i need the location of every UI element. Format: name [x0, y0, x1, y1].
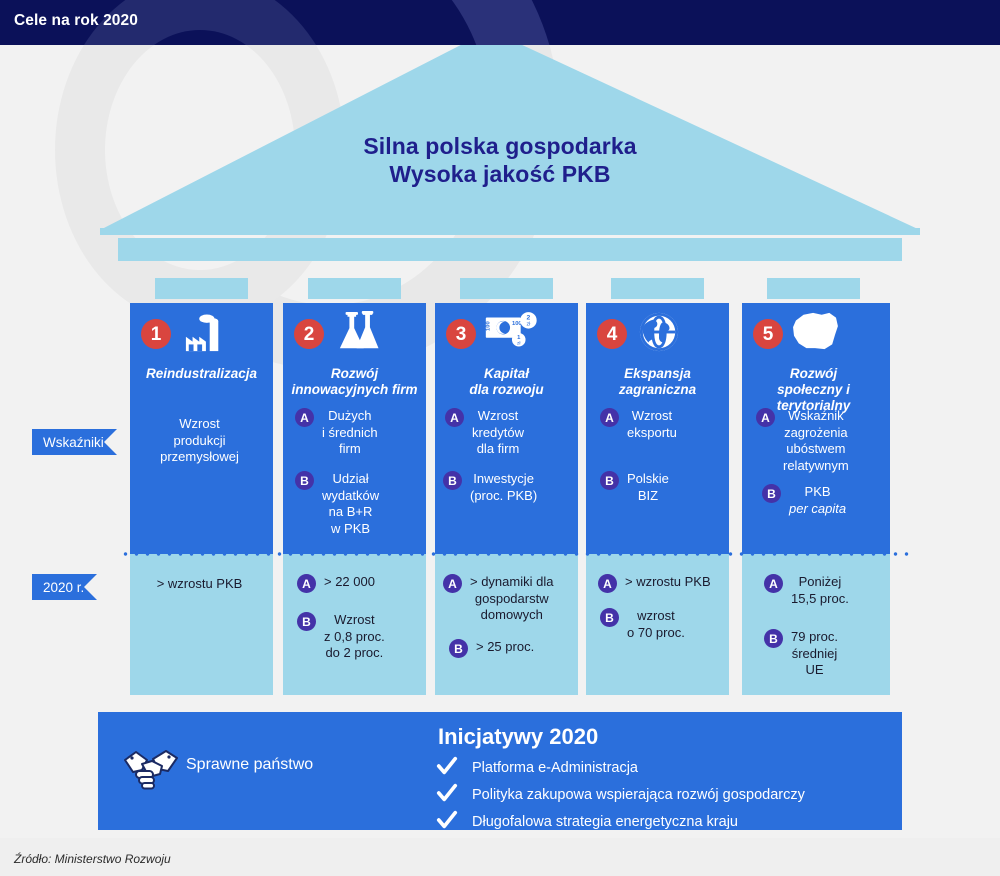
pillar-number-badge: 3 [446, 319, 476, 349]
banknote-coins-icon: 1001002zł1zł [480, 311, 542, 351]
poland-map-icon [790, 309, 840, 351]
pillar-number-badge: 4 [597, 319, 627, 349]
pillar-icon-wrap: 1001002zł1zł [480, 311, 542, 356]
target-text: > wzrostu PKB [625, 574, 711, 591]
pillar-number-badge: 1 [141, 319, 171, 349]
indicator-text: PKBper capita [789, 484, 846, 517]
indicator-text: Wzrosteksportu [627, 408, 677, 441]
pillar-1-indicators: 1ReindustralizacjaWzrostprodukcjiprzemys… [130, 303, 273, 554]
target-item: B> 25 proc. [449, 639, 574, 658]
pillar-3-targets: A> dynamiki dlagospodarstwdomowychB> 25 … [435, 554, 578, 695]
svg-text:100: 100 [512, 321, 522, 327]
pillar-4-indicators: 4EkspansjazagranicznaAWzrosteksportuBPol… [586, 303, 729, 554]
pillar-capital-2 [308, 278, 401, 299]
pillar-1[interactable]: 1ReindustralizacjaWzrostprodukcjiprzemys… [130, 303, 273, 695]
pillar-capital-4 [611, 278, 704, 299]
check-icon-wrap [436, 755, 460, 782]
indicator-letter-badge: A [295, 408, 314, 427]
pillar-title: Ekspansjazagraniczna [586, 366, 729, 398]
target-text: > wzrostu PKB [130, 576, 269, 593]
pillar-icon-wrap [790, 309, 840, 356]
target-letter-badge: B [449, 639, 468, 658]
pillar-3-indicators: 31001002zł1złKapitałdla rozwojuAWzrostkr… [435, 303, 578, 554]
pediment-line-1: Silna polska gospodarka [0, 132, 1000, 160]
row-label-targets: 2020 r. [32, 574, 84, 600]
target-item: BWzrostz 0,8 proc.do 2 proc. [297, 612, 422, 662]
check-icon [436, 782, 458, 804]
check-icon [436, 755, 458, 777]
state-label: Sprawne państwo [186, 756, 313, 774]
pillar-2-targets: A> 22 000BWzrostz 0,8 proc.do 2 proc. [283, 554, 426, 695]
pillar-title: Rozwójspołeczny i terytorialny [736, 366, 891, 414]
initiative-text: Polityka zakupowa wspierająca rozwój gos… [472, 787, 805, 803]
indicator-item: Wzrostprodukcjiprzemysłowej [130, 416, 269, 466]
pillar-2-indicators: 2Rozwójinnowacyjnych firmADużychi średni… [283, 303, 426, 554]
row-label-indicators: Wskaźniki [32, 429, 104, 455]
indicator-letter-badge: A [756, 408, 775, 427]
indicator-item: BPKBper capita [762, 484, 886, 517]
check-icon-wrap [436, 782, 460, 809]
initiative-item: Długofalowa strategia energetyczna kraju [436, 810, 805, 834]
indicator-text: PolskieBIZ [627, 471, 669, 504]
section-divider-dots [120, 551, 910, 557]
indicator-text: Wzrostkredytówdla firm [472, 408, 524, 458]
pillar-icon-wrap [335, 311, 381, 358]
indicator-text: Inwestycje(proc. PKB) [470, 471, 537, 504]
header-bar: Cele na rok 2020 [0, 0, 1000, 45]
initiative-item: Platforma e-Administracja [436, 756, 805, 780]
infographic-root: Cele na rok 2020 Silna polska gospodarka… [0, 0, 1000, 876]
indicator-text: Wzrostprodukcjiprzemysłowej [130, 416, 269, 466]
pediment-headline: Silna polska gospodarka Wysoka jakość PK… [0, 132, 1000, 188]
indicator-text: Dużychi średnichfirm [322, 408, 378, 458]
indicator-item: BInwestycje(proc. PKB) [443, 471, 574, 504]
pillar-4-targets: A> wzrostu PKBBwzrosto 70 proc. [586, 554, 729, 695]
pediment-line-2: Wysoka jakość PKB [0, 160, 1000, 188]
pillar-capital-1 [155, 278, 248, 299]
header-decoration [0, 0, 1000, 45]
initiatives-panel: Sprawne państwo Inicjatywy 2020 Platform… [98, 712, 902, 830]
indicator-letter-badge: B [762, 484, 781, 503]
pillar-title: Rozwójinnowacyjnych firm [283, 366, 426, 398]
check-icon-wrap [436, 809, 460, 836]
architrave-bar [118, 238, 902, 261]
check-icon [436, 809, 458, 831]
indicator-letter-badge: B [600, 471, 619, 490]
pillar-icon-wrap [182, 313, 226, 358]
target-letter-badge: A [598, 574, 617, 593]
pillar-number-badge: 2 [294, 319, 324, 349]
row-label-indicators-text: Wskaźniki [43, 435, 104, 450]
initiative-text: Długofalowa strategia energetyczna kraju [472, 814, 738, 830]
target-text: wzrosto 70 proc. [627, 608, 685, 641]
row-label-targets-text: 2020 r. [43, 580, 84, 595]
pillar-capital-3 [460, 278, 553, 299]
target-text: 79 proc.średniejUE [791, 629, 838, 679]
pillar-5-indicators: 5Rozwójspołeczny i terytorialnyAWskaźnik… [742, 303, 890, 554]
target-item: APoniżej15,5 proc. [764, 574, 886, 607]
target-letter-badge: B [297, 612, 316, 631]
target-letter-badge: A [443, 574, 462, 593]
pillar-number-badge: 5 [753, 319, 783, 349]
globe-icon [638, 311, 680, 353]
initiative-text: Platforma e-Administracja [472, 760, 638, 776]
target-item: > wzrostu PKB [130, 576, 269, 593]
pillar-4[interactable]: 4EkspansjazagranicznaAWzrosteksportuBPol… [586, 303, 729, 695]
indicator-item: AWskaźnikzagrożeniaubóstwemrelatywnym [756, 408, 886, 474]
factory-icon [182, 313, 226, 353]
svg-text:100: 100 [486, 321, 492, 331]
source-note: Źródło: Ministerstwo Rozwoju [14, 852, 171, 866]
pillar-icon-wrap [638, 311, 680, 358]
target-item: Bwzrosto 70 proc. [600, 608, 725, 641]
target-text: Poniżej15,5 proc. [791, 574, 849, 607]
target-letter-badge: A [764, 574, 783, 593]
target-item: B79 proc.średniejUE [764, 629, 886, 679]
target-text: Wzrostz 0,8 proc.do 2 proc. [324, 612, 385, 662]
target-text: > dynamiki dlagospodarstwdomowych [470, 574, 553, 624]
target-letter-badge: A [297, 574, 316, 593]
target-letter-badge: B [764, 629, 783, 648]
handshake-icon [122, 744, 180, 790]
target-item: A> wzrostu PKB [598, 574, 725, 593]
indicator-item: BUdziałwydatkówna B+Rw PKB [295, 471, 422, 537]
indicator-item: ADużychi średnichfirm [295, 408, 422, 458]
initiatives-list: Platforma e-AdministracjaPolityka zakupo… [436, 756, 805, 837]
target-item: A> dynamiki dlagospodarstwdomowych [443, 574, 574, 624]
svg-text:2: 2 [527, 314, 531, 321]
pillar-2[interactable]: 2Rozwójinnowacyjnych firmADużychi średni… [283, 303, 426, 695]
indicator-letter-badge: B [443, 471, 462, 490]
pillar-title: Kapitałdla rozwoju [435, 366, 578, 398]
indicator-item: AWzrostkredytówdla firm [445, 408, 574, 458]
initiatives-title: Inicjatywy 2020 [438, 724, 598, 750]
pillar-capital-5 [767, 278, 860, 299]
indicator-letter-badge: B [295, 471, 314, 490]
pillar-5-targets: APoniżej15,5 proc.B79 proc.średniejUE [742, 554, 890, 695]
flask-icon [335, 311, 381, 353]
indicator-item: BPolskieBIZ [600, 471, 725, 504]
page-title: Cele na rok 2020 [14, 12, 138, 30]
indicator-text: Udziałwydatkówna B+Rw PKB [322, 471, 379, 537]
initiative-item: Polityka zakupowa wspierająca rozwój gos… [436, 783, 805, 807]
pillar-1-targets: > wzrostu PKB [130, 554, 273, 695]
pillar-3[interactable]: 31001002zł1złKapitałdla rozwojuAWzrostkr… [435, 303, 578, 695]
target-text: > 25 proc. [476, 639, 534, 656]
indicator-text: Wskaźnikzagrożeniaubóstwemrelatywnym [783, 408, 849, 474]
pillar-5[interactable]: 5Rozwójspołeczny i terytorialnyAWskaźnik… [742, 303, 890, 695]
indicator-letter-badge: A [445, 408, 464, 427]
target-item: A> 22 000 [297, 574, 422, 593]
ribbon-tip-icon [104, 429, 117, 455]
ribbon-tip-icon [84, 574, 97, 600]
pillar-title: Reindustralizacja [130, 366, 273, 382]
indicator-letter-badge: A [600, 408, 619, 427]
target-letter-badge: B [600, 608, 619, 627]
target-text: > 22 000 [324, 574, 375, 591]
indicator-item: AWzrosteksportu [600, 408, 725, 441]
